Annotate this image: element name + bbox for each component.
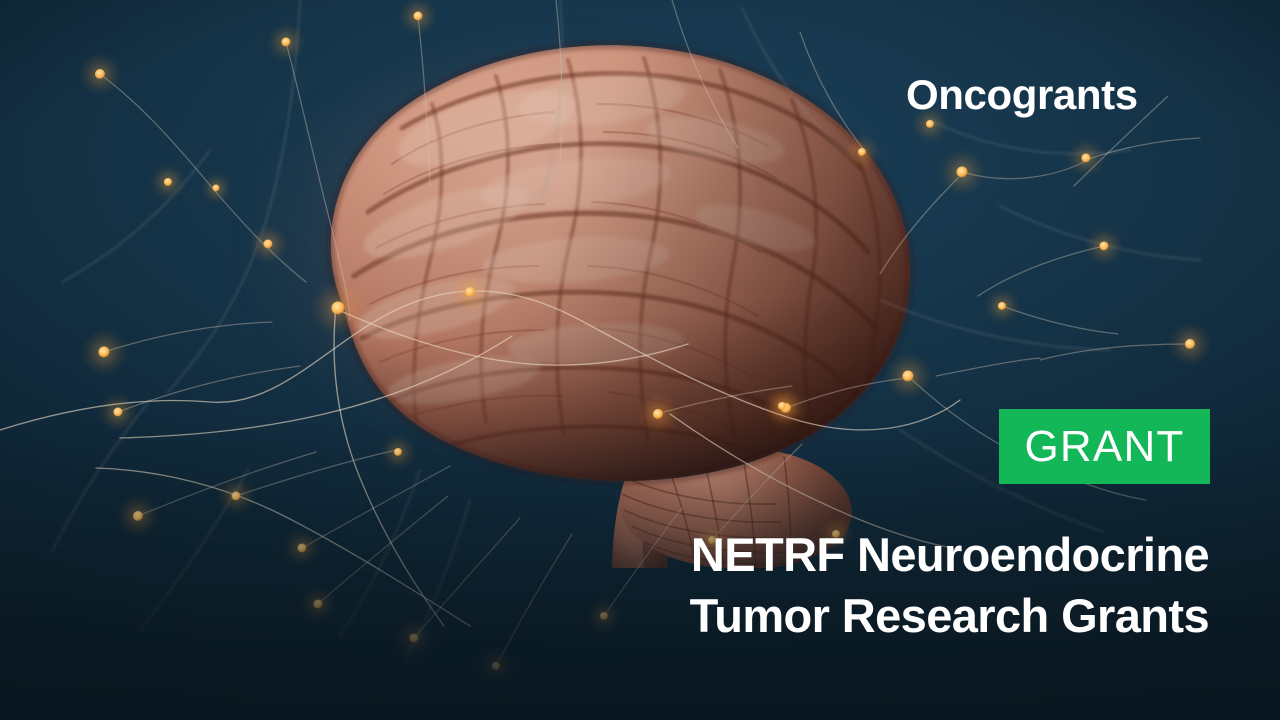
page-title-line-2: Tumor Research Grants xyxy=(449,585,1209,646)
grant-card: Oncogrants GRANT NETRF Neuroendocrine Tu… xyxy=(0,0,1280,720)
page-title-line-1: NETRF Neuroendocrine xyxy=(449,524,1209,585)
page-title: NETRF Neuroendocrine Tumor Research Gran… xyxy=(449,524,1209,646)
status-badge: GRANT xyxy=(999,409,1210,484)
status-badge-label: GRANT xyxy=(1025,425,1185,469)
brand-logo: Oncogrants xyxy=(906,74,1138,116)
